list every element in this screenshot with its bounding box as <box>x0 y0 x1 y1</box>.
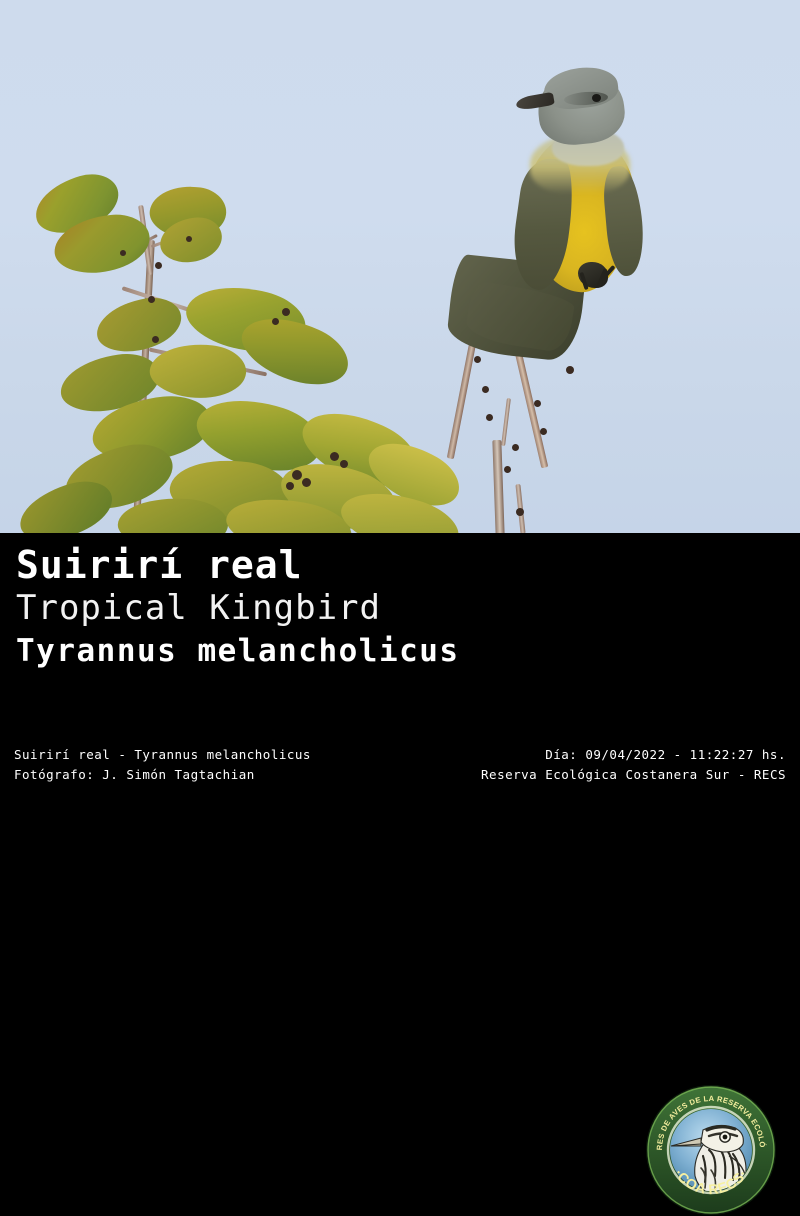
bud <box>504 466 511 473</box>
footer-location-line: Reserva Ecológica Costanera Sur - RECS <box>481 765 786 785</box>
seed-cluster <box>120 250 126 256</box>
bud <box>566 366 574 374</box>
photo-card: Suirirí real Tropical Kingbird Tyrannus … <box>0 0 800 800</box>
seed-cluster <box>330 452 339 461</box>
scientific-name: Tyrannus melancholicus <box>16 629 460 673</box>
bud <box>540 428 547 435</box>
bud <box>516 508 524 516</box>
footer-photographer-line: Fotógrafo: J. Simón Tagtachian <box>14 765 311 785</box>
seed-cluster <box>282 308 290 316</box>
common-name-en: Tropical Kingbird <box>16 587 460 629</box>
common-name-es: Suirirí real <box>16 543 460 587</box>
footer-datetime-line: Día: 09/04/2022 - 11:22:27 hs. <box>481 745 786 765</box>
seed-cluster <box>292 470 302 480</box>
seed-cluster <box>302 478 311 487</box>
bud <box>486 414 493 421</box>
bud <box>534 400 541 407</box>
footer-metadata: Suirirí real - Tyrannus melancholicus Fo… <box>0 745 800 800</box>
logo-svg: CLUB DE OBSERVADORES DE AVES DE LA RESER… <box>645 1084 777 1216</box>
seed-cluster <box>155 262 162 269</box>
coa-recs-logo[interactable]: CLUB DE OBSERVADORES DE AVES DE LA RESER… <box>645 1084 777 1216</box>
footer-species-line: Suirirí real - Tyrannus melancholicus <box>14 745 311 765</box>
bud <box>512 444 519 451</box>
footer-right-column: Día: 09/04/2022 - 11:22:27 hs. Reserva E… <box>481 745 786 785</box>
seed-cluster <box>340 460 348 468</box>
bird-tropical-kingbird <box>460 62 650 362</box>
seed-cluster <box>272 318 279 325</box>
seed-cluster <box>286 482 294 490</box>
bud <box>482 386 489 393</box>
seed-cluster <box>186 236 192 242</box>
seed-cluster <box>148 296 155 303</box>
bird-eye <box>592 94 601 102</box>
title-block: Suirirí real Tropical Kingbird Tyrannus … <box>16 543 460 673</box>
seed-cluster <box>152 336 159 343</box>
photograph <box>0 0 800 533</box>
footer-left-column: Suirirí real - Tyrannus melancholicus Fo… <box>14 745 311 785</box>
